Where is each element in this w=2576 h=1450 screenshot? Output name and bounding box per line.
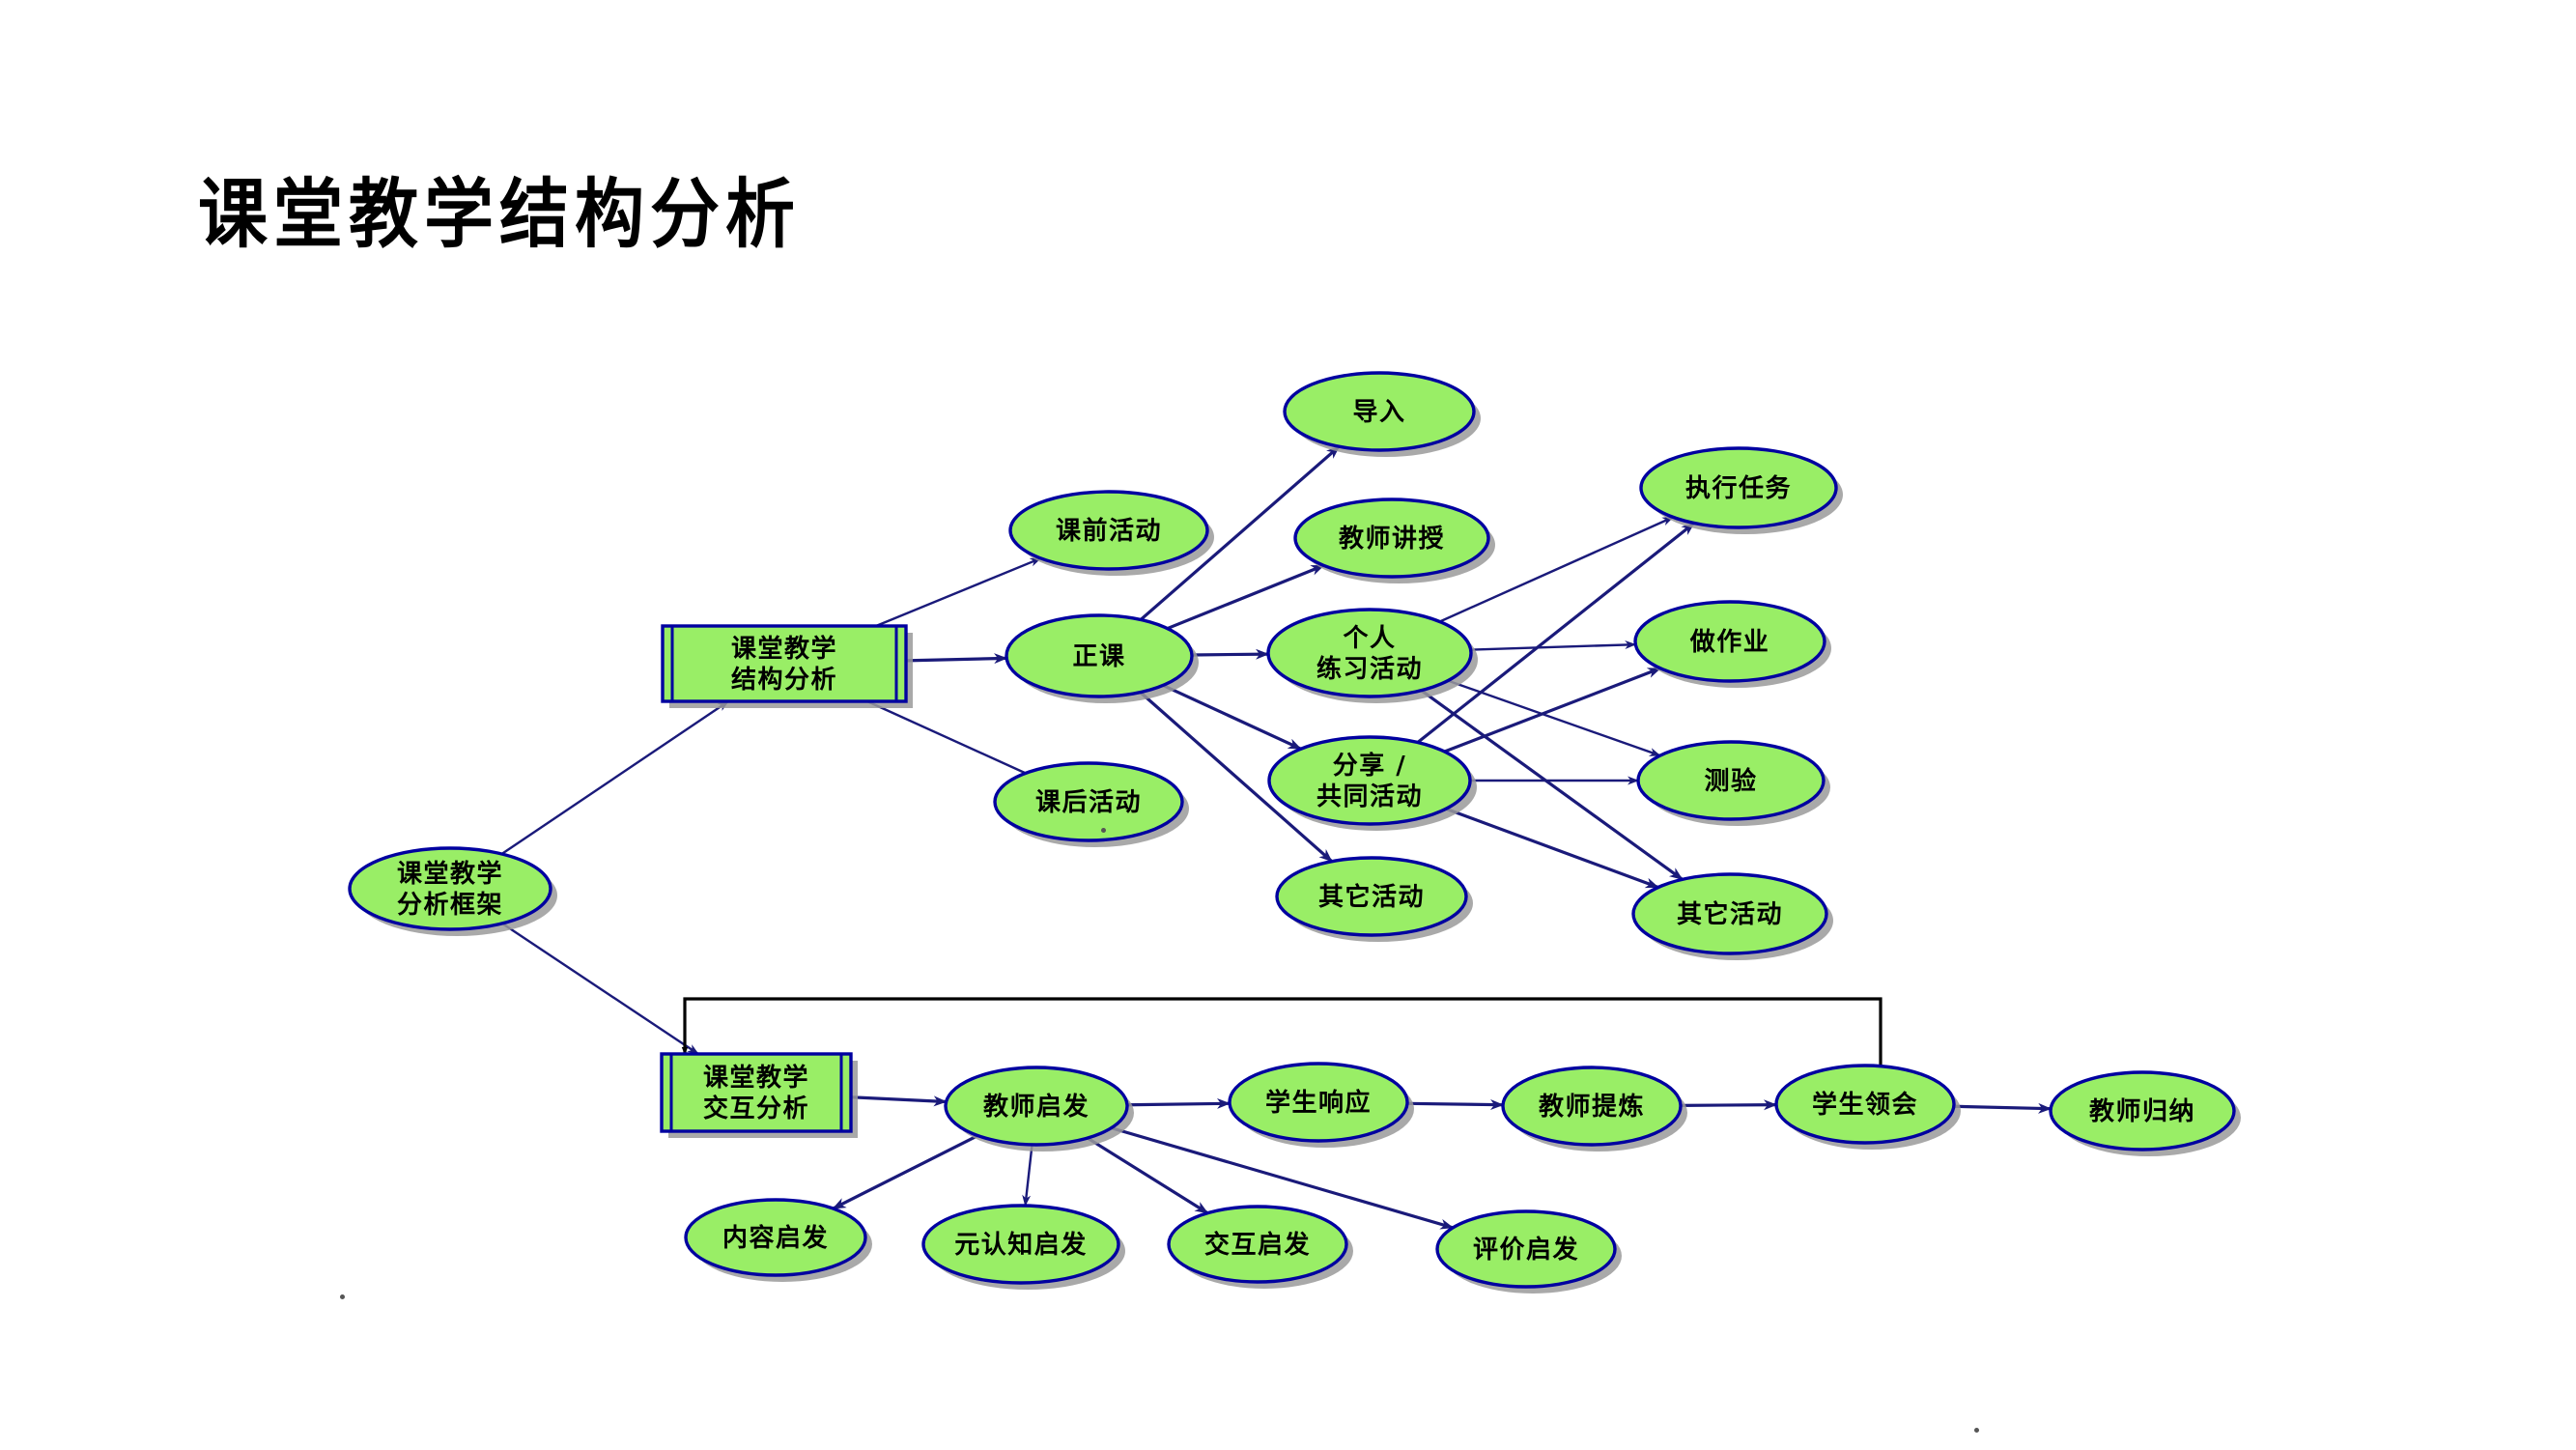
node-interaction-box[interactable]: 课堂教学交互分析 xyxy=(662,1054,858,1138)
edge-root-to-structure_box xyxy=(501,701,728,854)
node-other-mid[interactable]: 其它活动 xyxy=(1277,858,1473,942)
node-label: 做作业 xyxy=(1689,628,1770,657)
node-other-right[interactable]: 其它活动 xyxy=(1633,874,1833,960)
node-label: 个人 xyxy=(1343,624,1396,653)
edge-student_grasp-to-teacher_sum xyxy=(1954,1106,2051,1108)
edge-main_class-to-individual xyxy=(1192,654,1268,655)
stray-dot-1 xyxy=(340,1294,345,1299)
edge-structure_box-to-post_class xyxy=(867,701,1026,773)
node-label: 内容启发 xyxy=(722,1223,829,1253)
edge-teacher_refine-to-student_grasp xyxy=(1681,1105,1776,1106)
node-teacher-sum[interactable]: 教师归纳 xyxy=(2051,1072,2241,1156)
node-label: 共同活动 xyxy=(1316,782,1423,811)
stray-dot-3 xyxy=(1101,828,1106,833)
node-label: 课前活动 xyxy=(1056,516,1162,546)
node-lead-in[interactable]: 导入 xyxy=(1285,373,1481,457)
node-student-grasp[interactable]: 学生领会 xyxy=(1776,1066,1961,1150)
edge-root-to-interaction_box xyxy=(502,924,698,1054)
node-eval-insp[interactable]: 评价启发 xyxy=(1437,1211,1622,1294)
edge-structure_box-to-pre_class xyxy=(876,558,1041,626)
node-individual[interactable]: 个人练习活动 xyxy=(1268,610,1478,703)
node-post-class[interactable]: 课后活动 xyxy=(995,763,1189,847)
node-structure-box[interactable]: 课堂教学结构分析 xyxy=(663,626,913,708)
edge-individual-to-homework xyxy=(1471,644,1636,649)
node-teacher-lecture[interactable]: 教师讲授 xyxy=(1295,499,1495,583)
node-main-class[interactable]: 正课 xyxy=(1006,615,1199,703)
node-root[interactable]: 课堂教学分析框架 xyxy=(350,848,557,936)
node-label: 教师提炼 xyxy=(1539,1093,1645,1122)
node-label: 教师归纳 xyxy=(2089,1096,2195,1126)
node-quiz[interactable]: 测验 xyxy=(1638,742,1830,826)
node-label: 教师启发 xyxy=(983,1092,1090,1122)
node-content-insp[interactable]: 内容启发 xyxy=(686,1200,872,1282)
edge-teacher_inspire-to-meta_insp xyxy=(1025,1145,1032,1206)
node-label: 课后活动 xyxy=(1035,788,1142,817)
edge-teacher_inspire-to-content_insp xyxy=(834,1136,978,1208)
edge-sharing-to-other_right xyxy=(1446,809,1658,887)
node-homework[interactable]: 做作业 xyxy=(1635,602,1831,688)
edge-sharing-to-homework xyxy=(1445,668,1660,752)
node-label: 其它活动 xyxy=(1318,882,1425,912)
node-label: 其它活动 xyxy=(1677,899,1783,929)
node-label: 测验 xyxy=(1704,766,1757,796)
node-label: 结构分析 xyxy=(731,666,837,695)
node-pre-class[interactable]: 课前活动 xyxy=(1010,492,1214,576)
node-label: 课堂教学 xyxy=(731,634,837,664)
edge-teacher_inspire-to-student_respond xyxy=(1127,1103,1230,1104)
node-label: 教师讲授 xyxy=(1339,525,1445,554)
node-student-respond[interactable]: 学生响应 xyxy=(1230,1064,1414,1148)
stray-dot-2 xyxy=(1974,1428,1979,1433)
node-meta-insp[interactable]: 元认知启发 xyxy=(923,1206,1125,1290)
edge-structure_box-to-main_class xyxy=(906,658,1006,661)
node-label: 学生响应 xyxy=(1265,1088,1372,1118)
node-label: 评价启发 xyxy=(1473,1235,1579,1265)
node-label: 学生领会 xyxy=(1812,1090,1918,1120)
node-do-task[interactable]: 执行任务 xyxy=(1641,448,1843,534)
node-sharing[interactable]: 分享 /共同活动 xyxy=(1269,737,1477,831)
node-label: 交互分析 xyxy=(703,1094,809,1123)
node-layer: 课堂教学分析框架课堂教学结构分析课堂教学交互分析课前活动正课课后活动导入教师讲授… xyxy=(350,373,2241,1294)
node-label: 练习活动 xyxy=(1316,654,1423,684)
node-label: 课堂教学 xyxy=(397,859,503,889)
node-label: 导入 xyxy=(1352,398,1405,427)
node-inter-insp[interactable]: 交互启发 xyxy=(1169,1207,1353,1289)
edge-student_respond-to-teacher_refine xyxy=(1407,1103,1503,1104)
node-label: 元认知启发 xyxy=(954,1230,1088,1260)
node-label: 分析框架 xyxy=(397,891,503,920)
node-label: 正课 xyxy=(1072,642,1125,671)
slide-canvas: 课堂教学结构分析 课堂教学分析框架课堂教学结构分析课堂教学交互分析课前活动正课课… xyxy=(0,0,2576,1450)
node-label: 交互启发 xyxy=(1204,1230,1311,1260)
node-teacher-refine[interactable]: 教师提炼 xyxy=(1503,1067,1687,1151)
edge-interaction_box-to-teacher_inspire xyxy=(851,1097,947,1102)
edge-student_grasp-to-interaction_box xyxy=(685,999,1881,1066)
node-label: 执行任务 xyxy=(1685,473,1792,503)
edge-main_class-to-sharing xyxy=(1163,685,1301,749)
node-label: 分享 / xyxy=(1333,751,1407,781)
node-label: 课堂教学 xyxy=(703,1063,809,1093)
diagram-graph: 课堂教学分析框架课堂教学结构分析课堂教学交互分析课前活动正课课后活动导入教师讲授… xyxy=(0,0,2576,1450)
